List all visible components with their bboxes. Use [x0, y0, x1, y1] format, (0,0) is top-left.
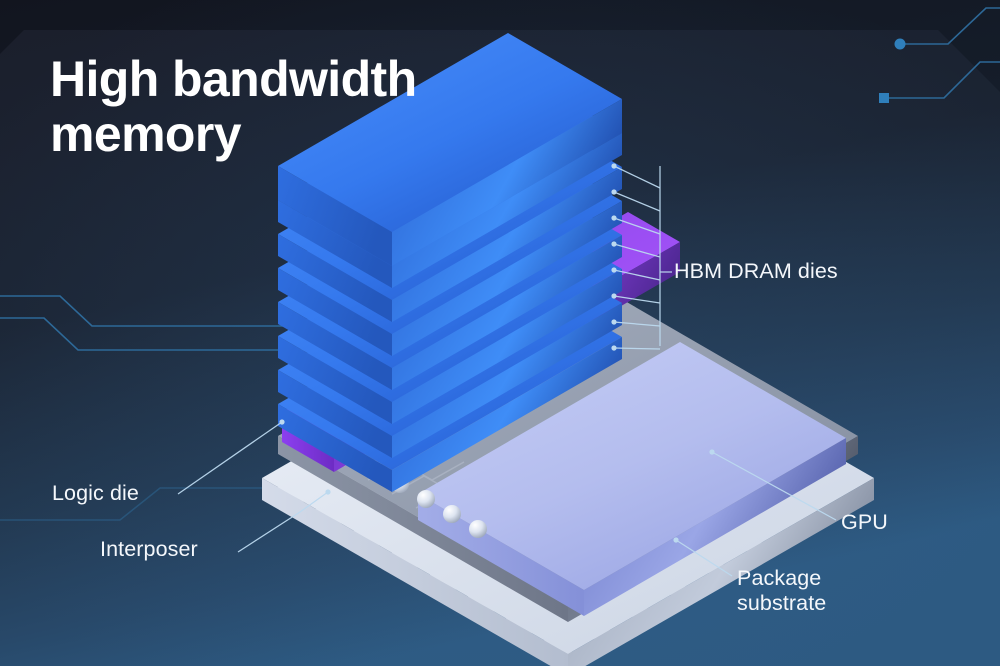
label-package-substrate: Package substrate	[737, 566, 826, 617]
page-title: High bandwidth memory	[50, 52, 570, 162]
label-interposer: Interposer	[100, 537, 198, 562]
label-logic-die: Logic die	[52, 481, 139, 506]
label-hbm-dram-dies: HBM DRAM dies	[674, 259, 838, 284]
hbm-infographic: High bandwidth memory HBM DRAM dies Logi…	[0, 0, 1000, 666]
label-gpu: GPU	[841, 510, 888, 535]
